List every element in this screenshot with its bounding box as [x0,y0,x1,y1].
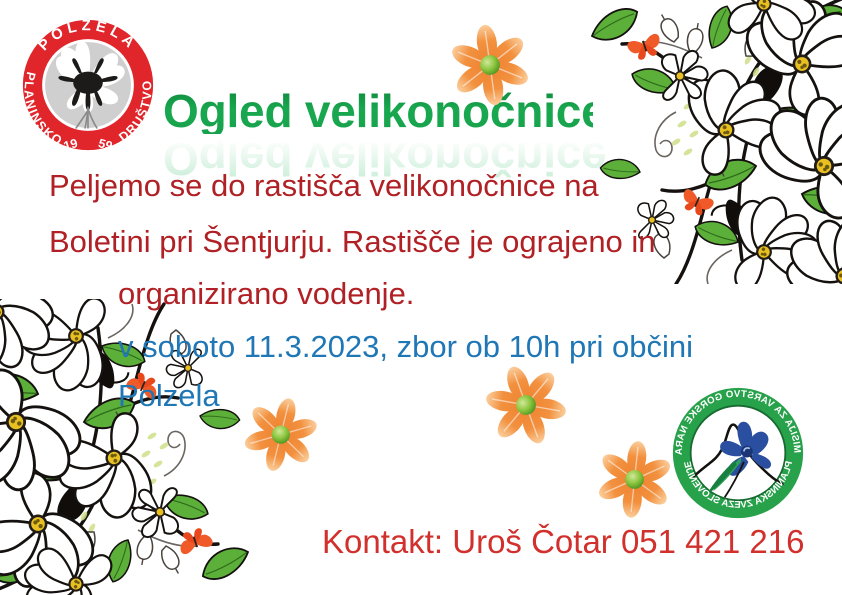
orange-daisy-icon-middle-left [238,392,324,478]
orange-daisy-icon-title [447,22,533,108]
polzela-mountaineering-club-logo: POLZELA PLANINSKO DRUŠTVO 19 59 [14,11,162,159]
body-line-1: Peljemo se do rastišča velikonočnice na [49,170,599,201]
poster-canvas: POLZELA PLANINSKO DRUŠTVO 19 59 Ogled ve… [0,0,842,595]
pzs-nature-protection-commission-logo: KOMISIJA ZA VARSTVO GORSKE NARAVE PLANIN… [664,379,812,527]
body-line-3: organizirano vodenje. [118,278,414,309]
body-line-2: Boletini pri Šentjurju. Rastišče je ogra… [49,226,656,257]
date-line-1: v soboto 11.3.2023, zbor ob 10h pri obči… [118,331,693,362]
club-logo-year-right: 59 [97,136,114,153]
orange-daisy-icon-center [483,362,569,448]
date-line-2: Polzela [118,380,220,411]
contact-line: Kontakt: Uroš Čotar 051 421 216 [322,525,804,558]
